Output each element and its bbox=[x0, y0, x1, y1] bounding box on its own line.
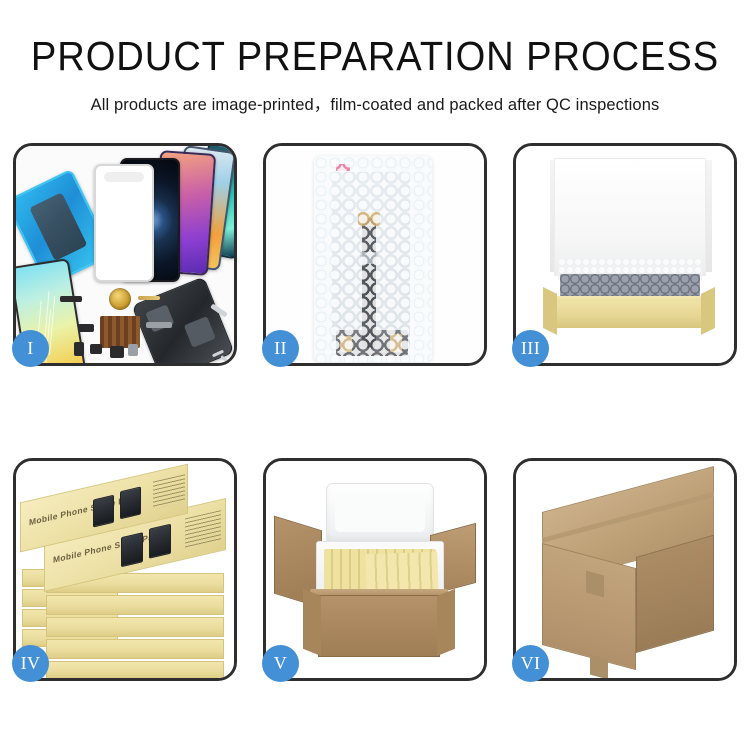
screw-part-2 bbox=[220, 355, 230, 363]
carton-tab-upper bbox=[586, 571, 604, 598]
white-phone bbox=[94, 164, 154, 282]
step-badge-4: IV bbox=[12, 645, 49, 682]
flex-cable-1 bbox=[138, 296, 160, 300]
box-stack: Mobile Phone Spare Parts Mobile Phone Sp… bbox=[16, 461, 234, 678]
stacked-box-r-5 bbox=[46, 661, 224, 678]
stacked-box-r-2 bbox=[46, 595, 224, 615]
step-badge-6: VI bbox=[512, 645, 549, 682]
small-part-3 bbox=[146, 322, 172, 328]
step-badge-2: II bbox=[262, 330, 299, 367]
step-panel-2: II bbox=[263, 143, 487, 366]
yellow-box-front bbox=[546, 301, 712, 328]
step-image-5 bbox=[266, 461, 484, 678]
carton-tab-lower bbox=[590, 655, 608, 678]
small-part-1 bbox=[60, 296, 82, 302]
step-panel-5: V bbox=[263, 458, 487, 681]
lid-screen-icon-d bbox=[149, 524, 171, 559]
header: PRODUCT PREPARATION PROCESS All products… bbox=[0, 0, 750, 115]
carton-right-face bbox=[636, 535, 714, 653]
step-image-3 bbox=[516, 146, 734, 363]
foam-box-lid bbox=[326, 483, 434, 545]
step-image-6 bbox=[516, 461, 734, 678]
step-image-1 bbox=[16, 146, 234, 363]
page-title: PRODUCT PREPARATION PROCESS bbox=[26, 36, 724, 77]
step-badge-3: III bbox=[512, 330, 549, 367]
lid-spec-lines-upper bbox=[153, 474, 185, 509]
small-part-2 bbox=[78, 324, 94, 332]
small-part-6 bbox=[110, 346, 124, 358]
lid-spec-lines-lower bbox=[185, 510, 221, 548]
step-image-4: Mobile Phone Spare Parts Mobile Phone Sp… bbox=[16, 461, 234, 678]
step-panel-1: I bbox=[13, 143, 237, 366]
step-panel-3: III bbox=[513, 143, 737, 366]
bubble-texture-overlay bbox=[314, 156, 432, 362]
stacked-box-r-4 bbox=[46, 639, 224, 659]
step-panel-6: VI bbox=[513, 458, 737, 681]
page-subtitle: All products are image-printed，film-coat… bbox=[0, 91, 750, 115]
step-badge-1: I bbox=[12, 330, 49, 367]
step-panel-4: Mobile Phone Spare Parts Mobile Phone Sp… bbox=[13, 458, 237, 681]
bubble-wrap-bag bbox=[314, 156, 432, 362]
small-part-5 bbox=[90, 344, 102, 354]
small-part-4 bbox=[74, 342, 84, 356]
product-preparation-infographic: PRODUCT PREPARATION PROCESS All products… bbox=[0, 0, 750, 750]
steps-grid: I II bbox=[13, 143, 737, 681]
lid-screen-icon-a bbox=[93, 495, 114, 528]
gold-coil-part bbox=[109, 288, 131, 310]
carton-body bbox=[318, 595, 440, 657]
lid-screen-icon-c bbox=[121, 532, 143, 567]
phone-back-housing bbox=[131, 276, 234, 363]
stacked-box-r-3 bbox=[46, 617, 224, 637]
step-image-2 bbox=[266, 146, 484, 363]
small-part-7 bbox=[128, 344, 138, 356]
lid-screen-icon-b bbox=[120, 486, 141, 519]
step-badge-5: V bbox=[262, 645, 299, 682]
